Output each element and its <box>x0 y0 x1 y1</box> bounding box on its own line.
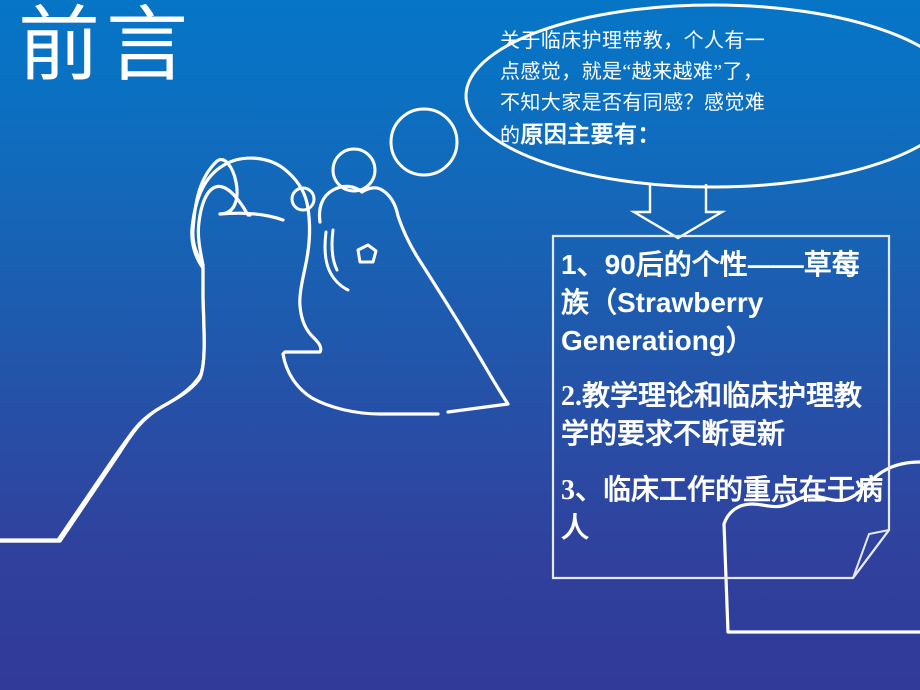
callout-arrow-icon <box>620 182 740 242</box>
note-item-list: 1、90后的个性——草莓族（Strawberry Generationg） 2.… <box>561 240 883 548</box>
figure-thumb-detail <box>325 232 348 290</box>
thought-bubble-text: 关于临床护理带教，个人有一 点感觉，就是“越来越难”了， 不知大家是否有同感？感… <box>500 26 870 152</box>
page-title: 前言 <box>18 0 194 96</box>
figure-finger-detail <box>332 230 337 270</box>
bubble-line-1: 点感觉，就是“越来越难”了， <box>500 61 763 83</box>
bubble-line-2: 不知大家是否有同感？感觉难 <box>500 92 765 114</box>
thought-dot-medium <box>333 149 375 191</box>
thought-dot-large <box>391 109 457 175</box>
figure-outline-main <box>0 158 438 541</box>
figure-face-outline <box>198 186 250 265</box>
bubble-line-3: 的 <box>500 125 520 147</box>
bubble-line-0: 关于临床护理带教，个人有一 <box>500 30 765 52</box>
note-box: 1、90后的个性——草莓族（Strawberry Generationg） 2.… <box>551 234 891 580</box>
figure-hand-arm-outline <box>320 186 508 412</box>
figure-torso-outline <box>0 452 120 541</box>
note-item-3: 3、临床工作的重点在于病人 <box>561 472 883 548</box>
thought-dot-small <box>292 188 314 210</box>
note-item-1: 1、90后的个性——草莓族（Strawberry Generationg） <box>561 246 883 360</box>
note-item-2: 2.教学理论和临床护理教学的要求不断更新 <box>561 378 883 454</box>
bubble-emphasis: 原因主要有： <box>520 122 660 147</box>
figure-head-shoulder-outline <box>0 160 283 540</box>
figure-ring-detail <box>358 245 376 262</box>
slide-canvas: 前言 关于临床护理带教，个人有一 点感觉，就是“越来越难”了， 不知大家是否有同… <box>0 0 920 690</box>
